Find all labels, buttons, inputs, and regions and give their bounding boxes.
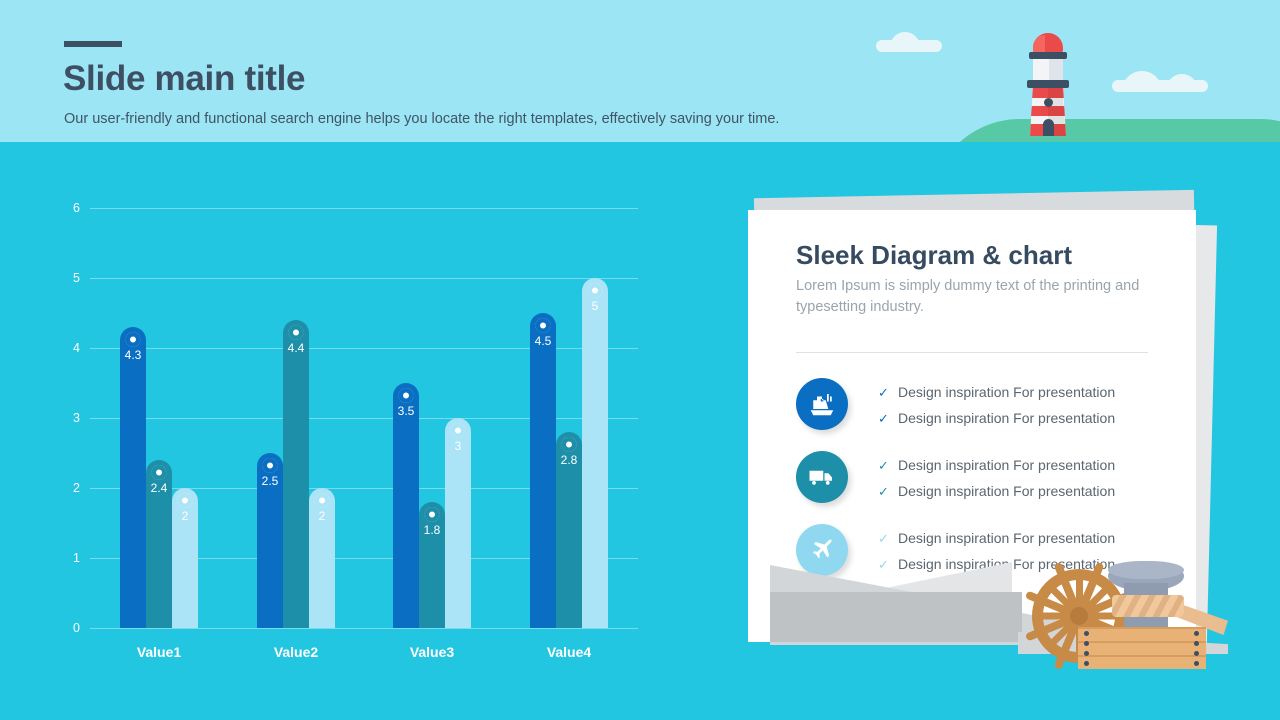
bar-value-label: 3 [455,439,462,453]
bar-value-label: 4.5 [535,334,552,348]
bar-value-marker [178,493,193,508]
bar-value-label: 2.5 [262,474,279,488]
bar-value-label: 2 [319,509,326,523]
check-icon: ✓ [878,381,898,406]
chart-bar[interactable]: 2 [172,488,198,628]
crate-stud [1194,641,1199,646]
bar-value-marker [263,458,278,473]
card-title: Sleek Diagram & chart [796,240,1072,271]
card-divider [796,352,1148,353]
feature-bullet-text: Design inspiration For presentation [898,410,1115,426]
crate-stud [1194,651,1199,656]
x-axis-category-label: Value1 [137,644,181,660]
feature-bullet-text: Design inspiration For presentation [898,457,1115,473]
gridline [90,208,638,209]
page-title: Slide main title [63,59,305,99]
bar-value-label: 2 [182,509,189,523]
feature-bullet-list: ✓Design inspiration For presentation✓Des… [878,380,1115,431]
feature-row: ✓Design inspiration For presentation✓Des… [796,451,1156,513]
paper-fold-shape [770,592,1022,642]
bar-value-marker [451,423,466,438]
check-icon: ✓ [878,454,898,479]
crate-plank [1078,657,1206,669]
bar-value-marker [289,325,304,340]
feature-bullet-list: ✓Design inspiration For presentation✓Des… [878,453,1115,504]
bar-value-marker [399,388,414,403]
crate-stud [1194,631,1199,636]
chart-bar[interactable]: 3 [445,418,471,628]
chart-bar[interactable]: 4.3 [120,327,146,628]
check-icon: ✓ [878,480,898,505]
bar-value-label: 4.4 [288,341,305,355]
nautical-decoration [1020,555,1230,685]
bar-value-label: 3.5 [398,404,415,418]
crate-plank [1078,643,1206,655]
bar-value-marker [425,507,440,522]
bar-value-marker [588,283,603,298]
x-axis-category-label: Value4 [547,644,591,660]
chart-bar[interactable]: 4.5 [530,313,556,628]
feature-bullet-item: ✓Design inspiration For presentation [878,526,1115,552]
chart-bar[interactable]: 5 [582,278,608,628]
title-accent-rule [64,41,122,47]
bar-value-marker [562,437,577,452]
rope-coil-icon [1112,595,1184,617]
crate-stud [1084,641,1089,646]
feature-bullet-item: ✓Design inspiration For presentation [878,453,1115,479]
feature-bullet-item: ✓Design inspiration For presentation [878,406,1115,432]
capstan-highlight [1108,561,1184,579]
gridline [90,278,638,279]
chart-bar[interactable]: 2 [309,488,335,628]
feature-bullet-text: Design inspiration For presentation [898,483,1115,499]
y-axis-tick-label: 1 [56,551,80,565]
chart-bar[interactable]: 2.8 [556,432,582,628]
gridline [90,628,638,629]
bar-value-marker [315,493,330,508]
chart-bar[interactable]: 4.4 [283,320,309,628]
x-axis-category-label: Value2 [274,644,318,660]
chart-bar[interactable]: 2.4 [146,460,172,628]
chart-bar[interactable]: 2.5 [257,453,283,628]
x-axis-category-label: Value3 [410,644,454,660]
y-axis-tick-label: 2 [56,481,80,495]
bar-value-label: 1.8 [424,523,441,537]
header-band: Slide main title Our user-friendly and f… [0,0,1280,142]
crate-stud [1084,661,1089,666]
crate-plank [1078,629,1206,641]
bar-value-label: 5 [592,299,599,313]
feature-bullet-text: Design inspiration For presentation [898,530,1115,546]
y-axis-tick-label: 0 [56,621,80,635]
cloud-icon [876,40,942,52]
wooden-crate-icon [1078,627,1206,669]
card-subtitle: Lorem Ipsum is simply dummy text of the … [796,276,1142,317]
crate-stud [1084,631,1089,636]
feature-bullet-item: ✓Design inspiration For presentation [878,479,1115,505]
bar-value-label: 4.3 [125,348,142,362]
crate-stud [1084,651,1089,656]
y-axis-tick-label: 4 [56,341,80,355]
lighthouse-icon [1019,33,1077,131]
y-axis-tick-label: 3 [56,411,80,425]
chart-bar[interactable]: 1.8 [419,502,445,628]
ship-icon [796,378,848,430]
cloud-icon [1112,80,1208,92]
y-axis-tick-label: 6 [56,201,80,215]
bar-value-label: 2.8 [561,453,578,467]
green-hill-shape [930,119,1280,142]
feature-bullet-item: ✓Design inspiration For presentation [878,380,1115,406]
chart-bar[interactable]: 3.5 [393,383,419,628]
check-icon: ✓ [878,527,898,552]
bar-value-marker [126,332,141,347]
slide-canvas: Slide main title Our user-friendly and f… [0,0,1280,720]
bar-value-marker [152,465,167,480]
page-subtitle: Our user-friendly and functional search … [64,111,779,127]
wheel-hub [1070,607,1088,625]
check-icon: ✓ [878,407,898,432]
feature-row: ✓Design inspiration For presentation✓Des… [796,378,1156,440]
bar-value-marker [536,318,551,333]
bar-chart: 0123456 4.32.422.54.423.51.834.52.85 Val… [0,142,700,720]
feature-bullet-text: Design inspiration For presentation [898,384,1115,400]
crate-stud [1194,661,1199,666]
truck-icon [796,451,848,503]
bar-value-label: 2.4 [151,481,168,495]
y-axis-tick-label: 5 [56,271,80,285]
